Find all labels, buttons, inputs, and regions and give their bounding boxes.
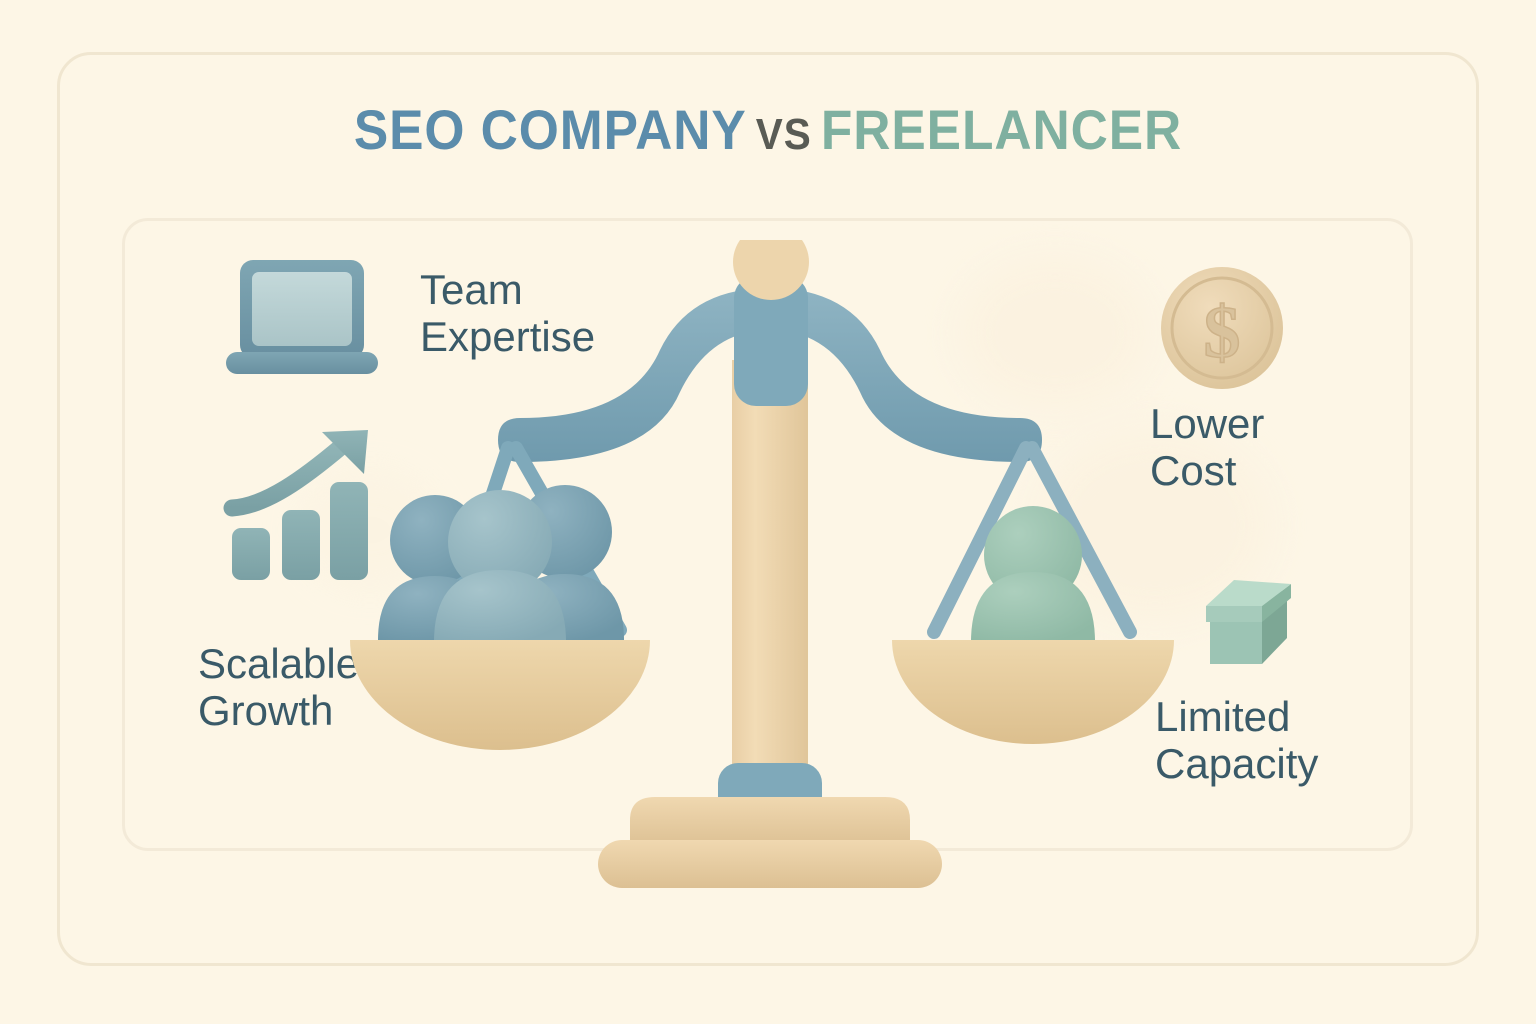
left-pan-group: [350, 485, 650, 750]
infographic-canvas: SEO COMPANYVSFREELANCER: [0, 0, 1536, 1024]
title-right-term: FREELANCER: [821, 98, 1182, 161]
title-vs: VS: [756, 110, 812, 159]
page-title: SEO COMPANYVSFREELANCER: [61, 97, 1474, 162]
balance-scale-illustration: [330, 240, 1210, 900]
title-left-term: SEO COMPANY: [354, 98, 747, 161]
